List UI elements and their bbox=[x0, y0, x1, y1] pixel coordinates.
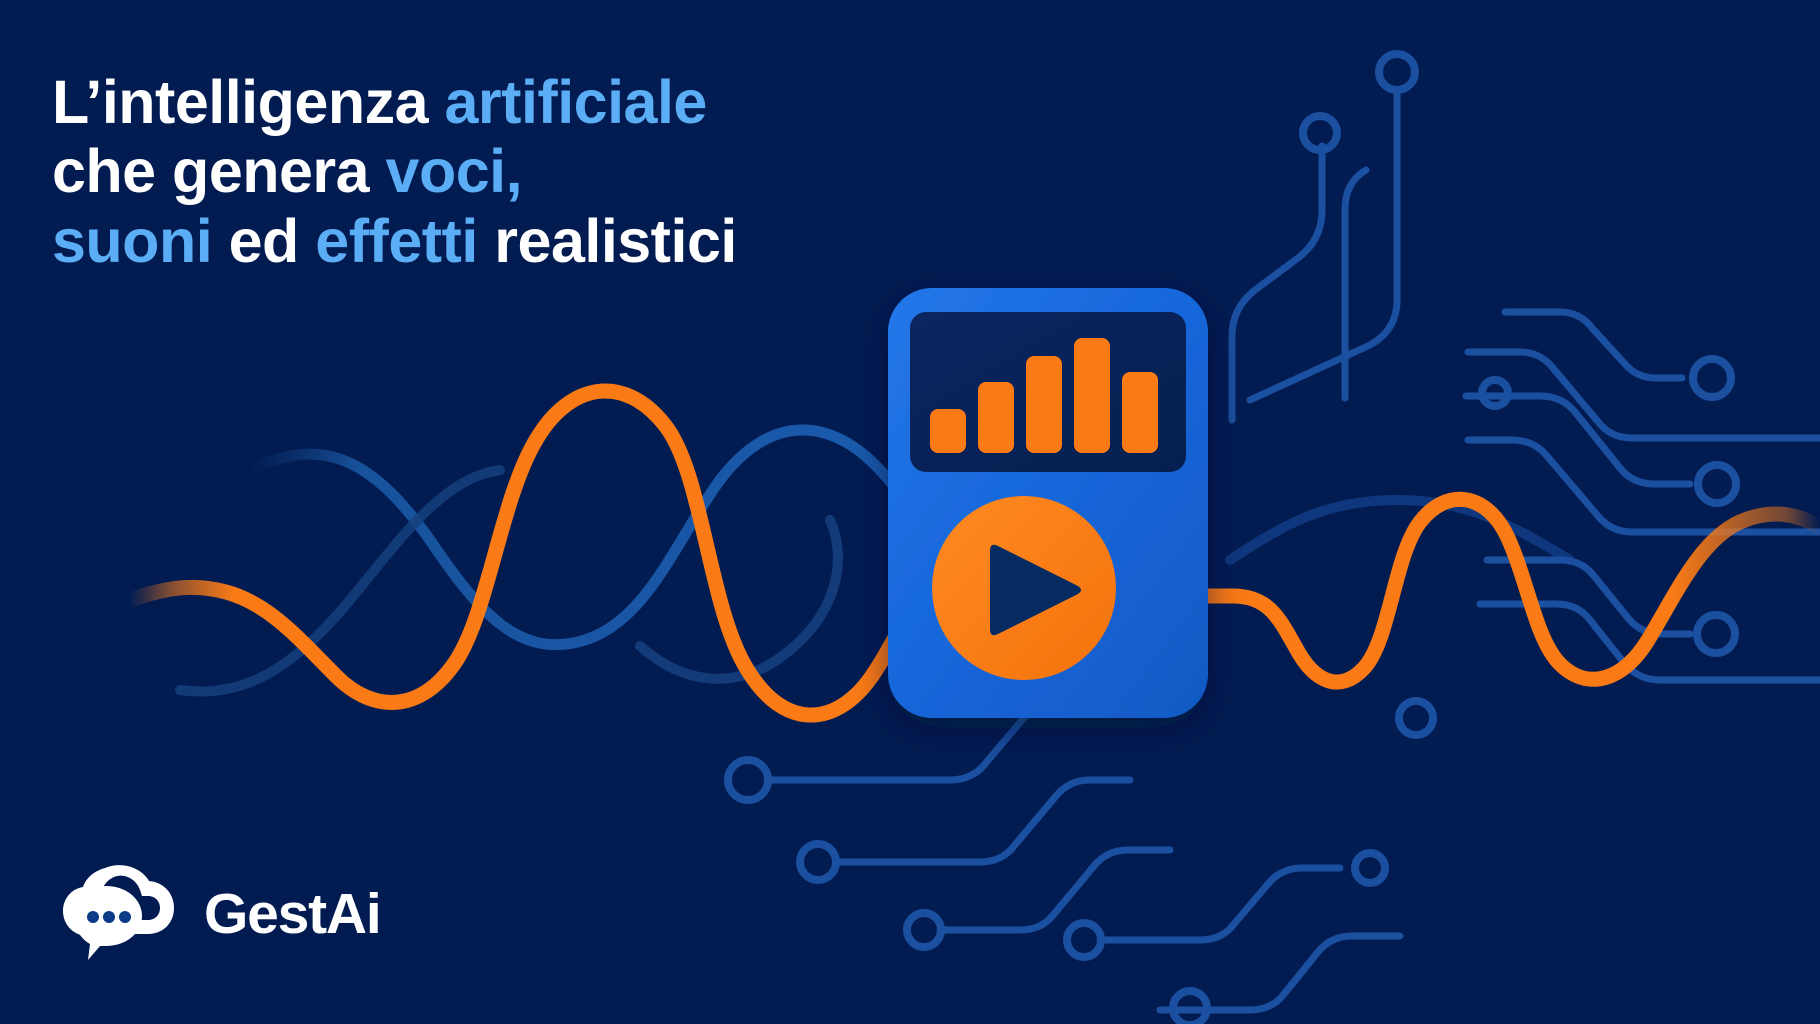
promo-banner: L’intelligenza artificiale che genera vo… bbox=[0, 0, 1820, 1024]
device-screen bbox=[910, 312, 1186, 472]
headline-seg-plain: realistici bbox=[478, 207, 737, 275]
headline-seg-plain: ed bbox=[212, 207, 315, 275]
headline-line-1: L’intelligenza artificiale bbox=[52, 72, 737, 132]
play-button[interactable] bbox=[932, 496, 1116, 680]
headline-seg-accent: voci, bbox=[386, 137, 523, 205]
headline-seg-plain: L’intelligenza bbox=[52, 68, 444, 136]
page-title: L’intelligenza artificiale che genera vo… bbox=[52, 72, 737, 280]
headline-seg-accent: artificiale bbox=[444, 68, 706, 136]
cloud-chat-bubble-icon bbox=[58, 862, 182, 966]
headline-line-3: suoni ed effetti realistici bbox=[52, 211, 737, 271]
headline-seg-accent: effetti bbox=[315, 207, 478, 275]
brand-logo[interactable]: GestAi bbox=[58, 862, 381, 966]
headline-line-2: che genera voci, bbox=[52, 141, 737, 201]
headline-seg-plain: che genera bbox=[52, 137, 386, 205]
headline-seg-accent: suoni bbox=[52, 207, 212, 275]
brand-name: GestAi bbox=[204, 886, 381, 943]
